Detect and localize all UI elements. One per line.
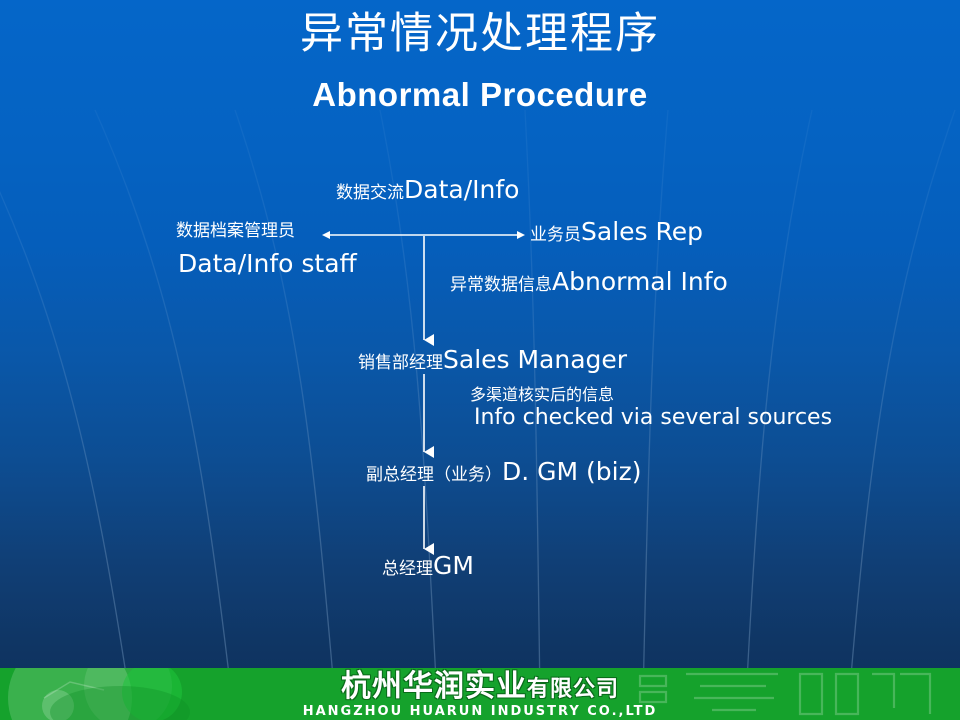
node-gm: 总经理GM	[382, 552, 474, 580]
edge-label-abnormal-info: 异常数据信息Abnormal Info	[450, 268, 728, 296]
node-sales-manager: 销售部经理Sales Manager	[358, 346, 627, 374]
node-data-info-staff-en: Data/Info staff	[178, 250, 357, 278]
footer-company-name-cn: 杭州华润实业有限公司	[0, 670, 960, 707]
edge-label-data-exchange: 数据交流Data/Info	[336, 176, 519, 204]
footer-banner: 杭州华润实业有限公司 HANGZHOU HUARUN INDUSTRY CO.,…	[0, 668, 960, 720]
node-sales-rep: 业务员Sales Rep	[530, 218, 703, 246]
node-sales-manager-cn: 销售部经理	[358, 353, 443, 373]
node-sales-manager-en: Sales Manager	[443, 345, 627, 374]
footer-company-suffix: 有限公司	[527, 677, 619, 702]
node-deputy-gm-en: D. GM (biz)	[502, 457, 641, 486]
edge-label-abnormal-info-en: Abnormal Info	[552, 267, 728, 296]
edge-label-abnormal-info-cn: 异常数据信息	[450, 275, 552, 295]
node-deputy-gm: 副总经理（业务）D. GM (biz)	[366, 458, 641, 486]
edge-label-checked-en: Info checked via several sources	[474, 406, 832, 431]
footer-company-main: 杭州华润实业	[341, 669, 527, 704]
edge-label-checked-cn: 多渠道核实后的信息	[470, 386, 614, 404]
page-title-en: Abnormal Procedure	[0, 74, 960, 116]
node-deputy-gm-cn: 副总经理（业务）	[366, 465, 502, 485]
edge-label-data-exchange-en: Data/Info	[404, 175, 519, 204]
node-sales-rep-cn: 业务员	[530, 225, 581, 245]
node-gm-en: GM	[433, 551, 474, 580]
node-gm-cn: 总经理	[382, 559, 433, 579]
edge-label-data-exchange-cn: 数据交流	[336, 183, 404, 203]
slide-canvas: 异常情况处理程序 Abnormal Procedure 数据交流	[0, 0, 960, 720]
page-title-cn: 异常情况处理程序	[0, 8, 960, 60]
footer-company-name-en: HANGZHOU HUARUN INDUSTRY CO.,LTD	[0, 704, 960, 719]
node-sales-rep-en: Sales Rep	[581, 217, 703, 246]
node-data-info-staff-cn: 数据档案管理员	[176, 222, 295, 241]
